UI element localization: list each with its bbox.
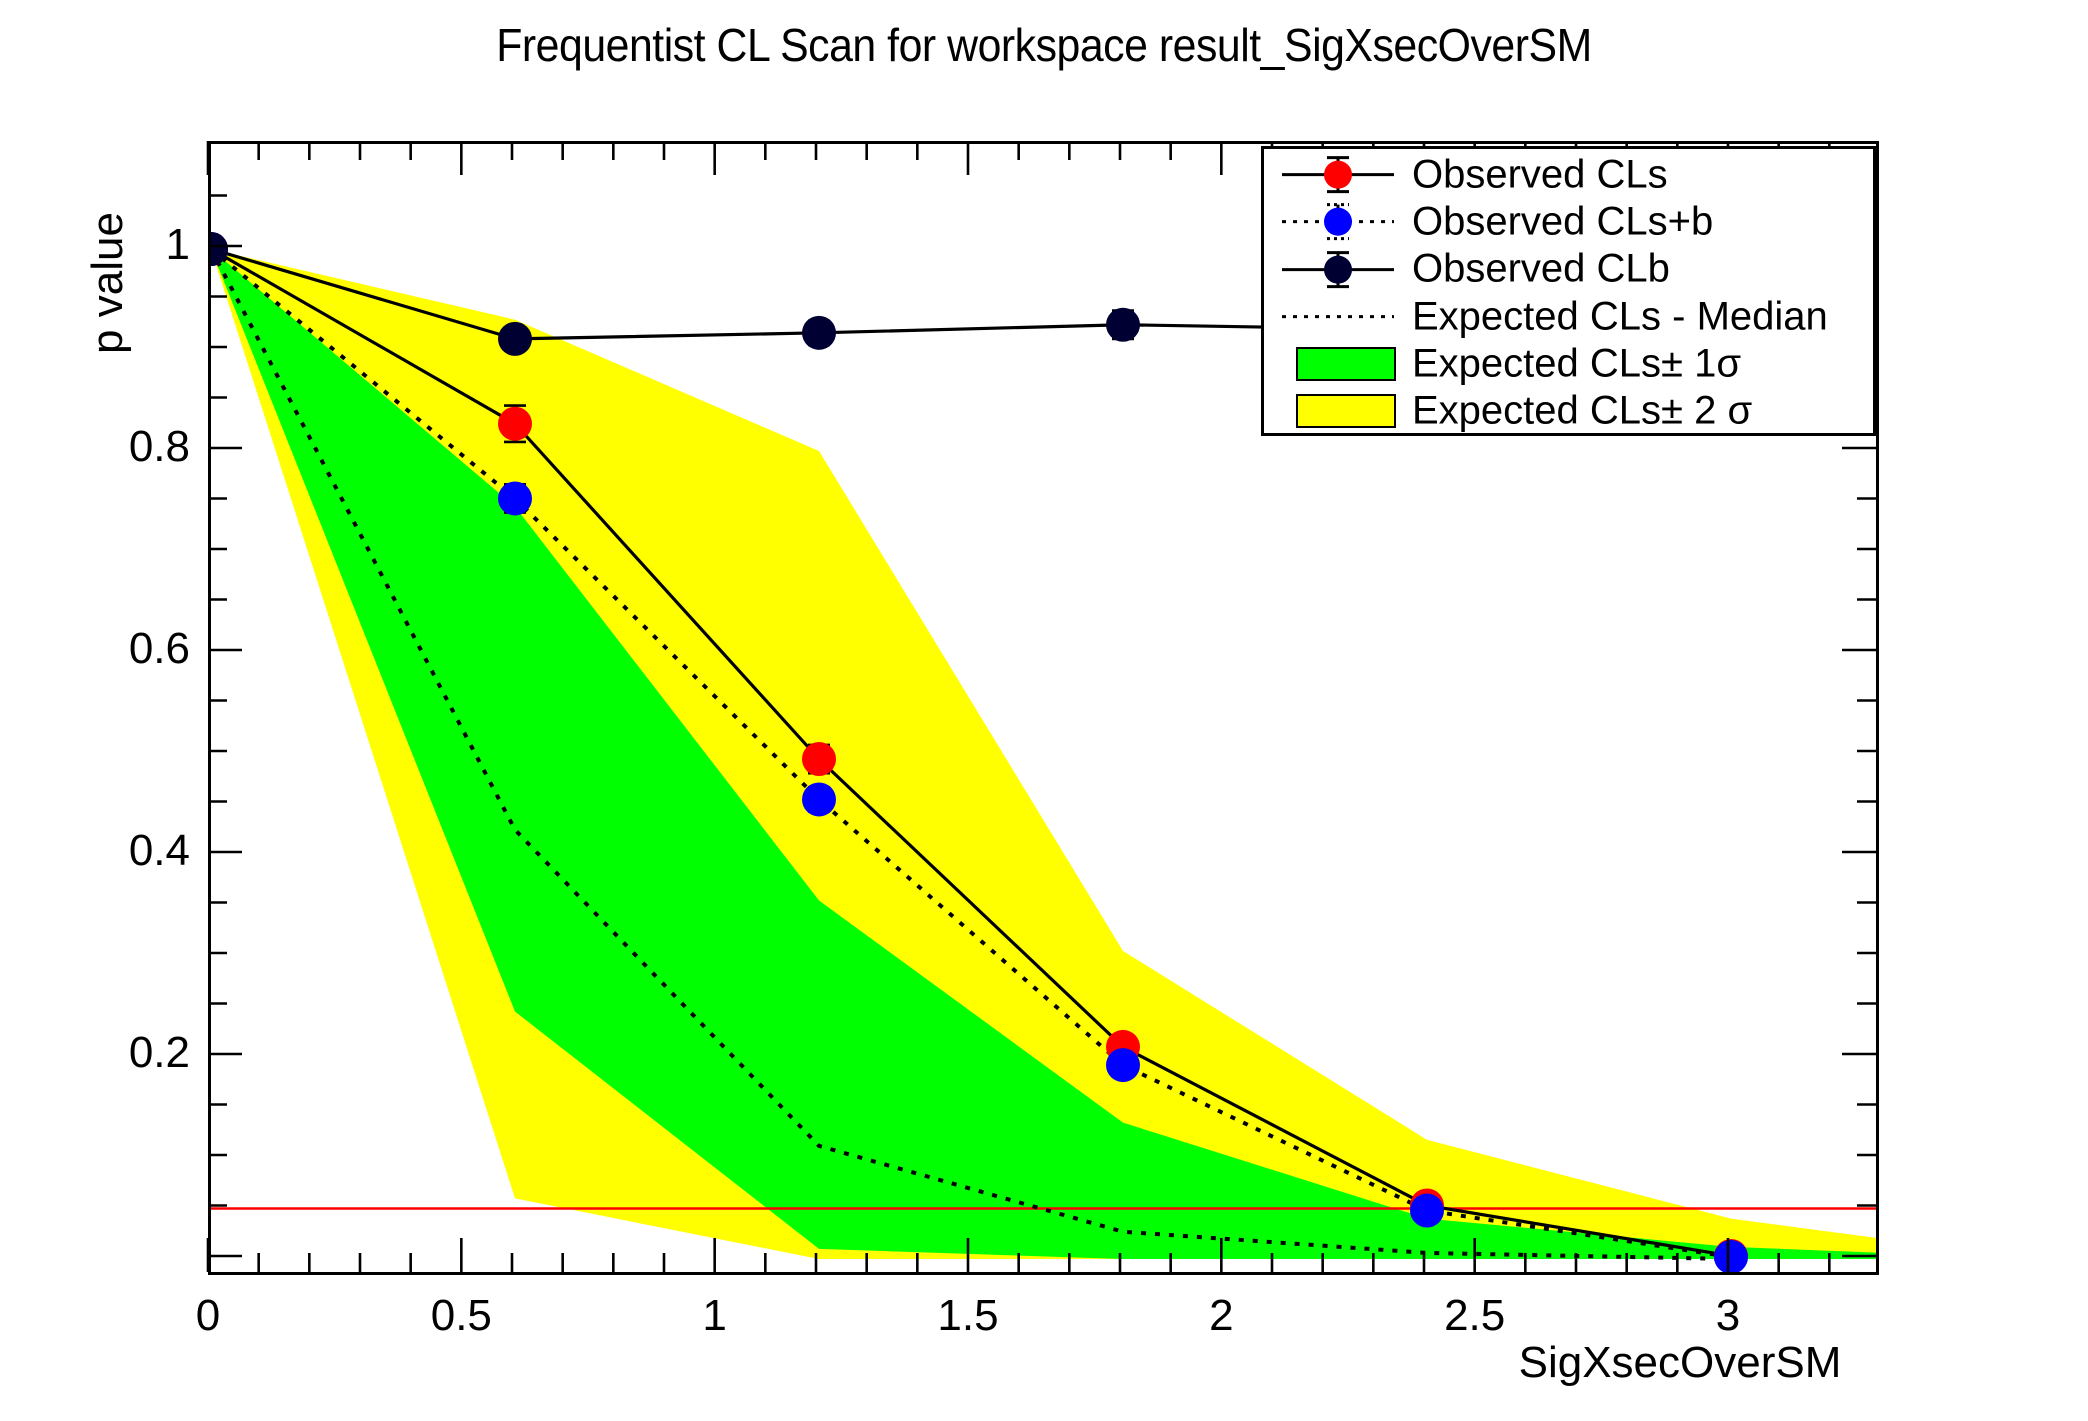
x-tick-label: 0 (138, 1294, 278, 1338)
legend-label: Expected CLs - Median (1412, 294, 1828, 339)
marker-observed-clb (498, 322, 532, 356)
legend-symbol (1274, 246, 1402, 293)
y-tick-label: 0.6 (40, 627, 190, 671)
marker-observed-clb (1106, 308, 1140, 342)
legend-item[interactable]: Observed CLb (1264, 246, 1879, 293)
legend-item[interactable]: Expected CLs - Median (1264, 293, 1879, 340)
legend-label: Observed CLs (1412, 152, 1668, 197)
legend-label: Expected CLs± 2 σ (1412, 389, 1752, 434)
marker-observed-cls-b (498, 481, 532, 515)
legend-swatch (1296, 347, 1396, 381)
legend-item[interactable]: Observed CLs+b (1264, 198, 1879, 245)
legend-item[interactable]: Observed CLs (1264, 151, 1879, 198)
marker-observed-cls (802, 742, 836, 776)
legend-symbol (1274, 151, 1402, 198)
legend-marker-navy-circle-errorbar (1274, 246, 1402, 293)
legend-marker-green-box (1274, 340, 1402, 387)
legend-marker-yellow-box (1274, 388, 1402, 435)
legend-label: Expected CLs± 1σ (1412, 341, 1741, 386)
legend-swatch (1296, 394, 1396, 428)
x-axis-title: SigXsecOverSM (1470, 1338, 1890, 1388)
y-axis-title: p value (83, 153, 133, 413)
legend-marker-blue-circle-errorbar (1274, 198, 1402, 245)
legend-item[interactable]: Expected CLs± 1σ (1264, 340, 1879, 387)
y-tick-label: 0.4 (40, 829, 190, 873)
legend: Observed CLsObserved CLs+bObserved CLbEx… (1261, 146, 1876, 436)
marker-observed-cls-b (1106, 1048, 1140, 1082)
legend-marker-red-circle-errorbar (1274, 151, 1402, 198)
legend-label: Observed CLs+b (1412, 199, 1713, 244)
x-tick-label: 3 (1658, 1294, 1798, 1338)
legend-item[interactable]: Expected CLs± 2 σ (1264, 388, 1879, 435)
x-tick-label: 1 (645, 1294, 785, 1338)
chart-canvas: Frequentist CL Scan for workspace result… (0, 0, 2088, 1416)
marker-observed-clb (802, 316, 836, 350)
marker-observed-cls (498, 407, 532, 441)
marker-observed-cls-b (802, 782, 836, 816)
legend-marker-dotted-line (1274, 293, 1402, 340)
page-title: Frequentist CL Scan for workspace result… (73, 18, 2015, 72)
x-tick-label: 2.5 (1405, 1294, 1545, 1338)
x-tick-label: 0.5 (391, 1294, 531, 1338)
marker-observed-cls-b (1410, 1194, 1444, 1228)
x-tick-label: 1.5 (898, 1294, 1038, 1338)
y-tick-label: 0.2 (40, 1031, 190, 1075)
legend-symbol (1274, 293, 1402, 340)
legend-label: Observed CLb (1412, 247, 1670, 292)
marker-observed-cls-b (1714, 1240, 1748, 1274)
legend-symbol (1274, 198, 1402, 245)
x-tick-label: 2 (1151, 1294, 1291, 1338)
y-tick-label: 0.8 (40, 425, 190, 469)
